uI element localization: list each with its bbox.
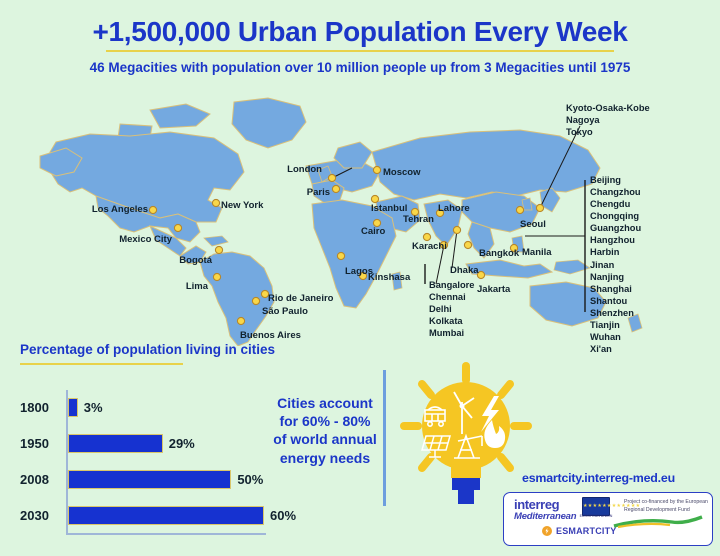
- swoosh-icon: [612, 515, 704, 529]
- city-dot-bogota: [215, 246, 222, 253]
- map-label-bangkok: Bangkok: [479, 248, 519, 259]
- city-dot-dhaka: [453, 226, 460, 233]
- map-label-istanbul: Istanbul: [371, 203, 407, 214]
- city-label: Changzhou: [590, 186, 641, 198]
- city-dot-istanbul: [371, 195, 378, 202]
- city-dot-new-york: [212, 199, 219, 206]
- city-label: Tianjin: [590, 319, 641, 331]
- map-landmasses: [40, 98, 642, 346]
- city-label: Nagoya: [566, 114, 650, 126]
- bar-year-label: 2030: [20, 508, 64, 523]
- map-label-manila: Manila: [522, 247, 552, 258]
- city-label: Beijing: [590, 174, 641, 186]
- city-label: Jinan: [590, 259, 641, 271]
- bar-row: 200850%: [20, 468, 263, 490]
- city-label: Xi'an: [590, 343, 641, 355]
- funding-logo-box: interreg Mediterranean ★★★★★★★★★★★★ EURO…: [503, 492, 713, 546]
- city-dot-lima: [213, 273, 220, 280]
- map-label-karachi: Karachi: [412, 241, 447, 252]
- city-label: Shenzhen: [590, 307, 641, 319]
- map-label-tehran: Tehran: [403, 214, 434, 225]
- bar-value-label: 29%: [169, 436, 195, 451]
- bar-year-label: 1950: [20, 436, 64, 451]
- map-label-s-o-paulo: São Paulo: [262, 306, 308, 317]
- city-list-india: Bangalore Chennai Delhi Kolkata Mumbai: [429, 279, 474, 339]
- bar-row: 203060%: [20, 504, 296, 526]
- map-label-paris: Paris: [307, 187, 330, 198]
- bar-value-label: 3%: [84, 400, 103, 415]
- city-dot-seoul: [516, 206, 523, 213]
- bar-1800: [68, 398, 78, 417]
- city-dot-tokyo: [536, 204, 543, 211]
- esmartcity-bolt-icon: [542, 526, 552, 536]
- city-dot-sao-paulo: [252, 297, 259, 304]
- city-label: Hangzhou: [590, 234, 641, 246]
- city-dot-moscow: [373, 166, 380, 173]
- city-label: Chengdu: [590, 198, 641, 210]
- city-dot-london: [328, 174, 335, 181]
- city-label: Wuhan: [590, 331, 641, 343]
- bar-value-label: 50%: [237, 472, 263, 487]
- title-divider: [106, 50, 614, 52]
- esmartcity-label: ESMARTCITY: [556, 526, 617, 536]
- city-dot-mexico-city: [174, 224, 181, 231]
- city-label: Chongqing: [590, 210, 641, 222]
- map-label-kinshasa: Kinshasa: [368, 272, 410, 283]
- city-label: Guangzhou: [590, 222, 641, 234]
- city-label: Nanjing: [590, 271, 641, 283]
- bar-row: 195029%: [20, 432, 195, 454]
- bar-1950: [68, 434, 163, 453]
- chart-title-divider: [20, 363, 183, 365]
- bar-row: 18003%: [20, 396, 103, 418]
- map-label-jakarta: Jakarta: [477, 284, 510, 295]
- website-url[interactable]: esmartcity.interreg-med.eu: [522, 471, 675, 485]
- map-label-lima: Lima: [186, 281, 208, 292]
- population-bar-chart: Percentage of population living in citie…: [20, 342, 285, 542]
- city-list-japan: Kyoto-Osaka-Kobe Nagoya Tokyo: [566, 102, 650, 138]
- city-label: Tokyo: [566, 126, 650, 138]
- chart-title: Percentage of population living in citie…: [20, 342, 285, 358]
- section-divider: [383, 370, 386, 506]
- energy-statement: Cities account for 60% - 80% of world an…: [272, 394, 378, 467]
- bulb-base: [452, 478, 480, 504]
- map-label-dhaka: Dhaka: [450, 265, 479, 276]
- city-dot-karachi: [423, 233, 430, 240]
- infographic-root: +1,500,000 Urban Population Every Week 4…: [0, 0, 720, 556]
- page-subtitle: 46 Megacities with population over 10 mi…: [0, 60, 720, 75]
- city-label: Mumbai: [429, 327, 474, 339]
- city-dot-paris: [332, 185, 339, 192]
- city-dot-lagos: [337, 252, 344, 259]
- bar-year-label: 2008: [20, 472, 64, 487]
- map-label-moscow: Moscow: [383, 167, 420, 178]
- city-label: Kolkata: [429, 315, 474, 327]
- page-title: +1,500,000 Urban Population Every Week: [0, 16, 720, 48]
- eu-flag-caption: EUROPEAN UNION: [579, 514, 613, 518]
- mediterranean-logo-text: Mediterranean: [514, 511, 576, 522]
- map-label-bogot-: Bogotá: [179, 255, 212, 266]
- world-map: Los AngelesNew YorkMexico CityBogotáLima…: [0, 96, 720, 346]
- city-dot-bangkok: [464, 241, 471, 248]
- city-label: Kyoto-Osaka-Kobe: [566, 102, 650, 114]
- city-label: Bangalore: [429, 279, 474, 291]
- city-list-china: Beijing Changzhou Chengdu Chongqing Guan…: [590, 174, 641, 355]
- map-label-los-angeles: Los Angeles: [92, 204, 148, 215]
- map-label-lahore: Lahore: [438, 203, 470, 214]
- interreg-logo-text: interreg: [514, 497, 559, 512]
- city-label: Shanghai: [590, 283, 641, 295]
- city-label: Delhi: [429, 303, 474, 315]
- city-label: Shantou: [590, 295, 641, 307]
- esmartcity-logo: ESMARTCITY: [542, 526, 617, 536]
- funding-statement: Project co-financed by the European Regi…: [624, 499, 708, 514]
- bar-2008: [68, 470, 231, 489]
- city-label: Harbin: [590, 246, 641, 258]
- chart-axis-baseline: [66, 533, 266, 535]
- bar-year-label: 1800: [20, 400, 64, 415]
- bar-2030: [68, 506, 264, 525]
- lightbulb-graphic: [396, 362, 536, 512]
- city-dot-los-angeles: [149, 206, 156, 213]
- map-label-cairo: Cairo: [361, 226, 385, 237]
- city-dot-buenos-aires: [237, 317, 244, 324]
- map-label-mexico-city: Mexico City: [119, 234, 172, 245]
- map-label-london: London: [287, 164, 322, 175]
- map-label-new-york: New York: [221, 200, 263, 211]
- city-label: Chennai: [429, 291, 474, 303]
- map-label-rio-de-janeiro: Rio de Janeiro: [268, 293, 333, 304]
- bar-value-label: 60%: [270, 508, 296, 523]
- map-label-seoul: Seoul: [520, 219, 546, 230]
- map-label-buenos-aires: Buenos Aires: [240, 330, 301, 341]
